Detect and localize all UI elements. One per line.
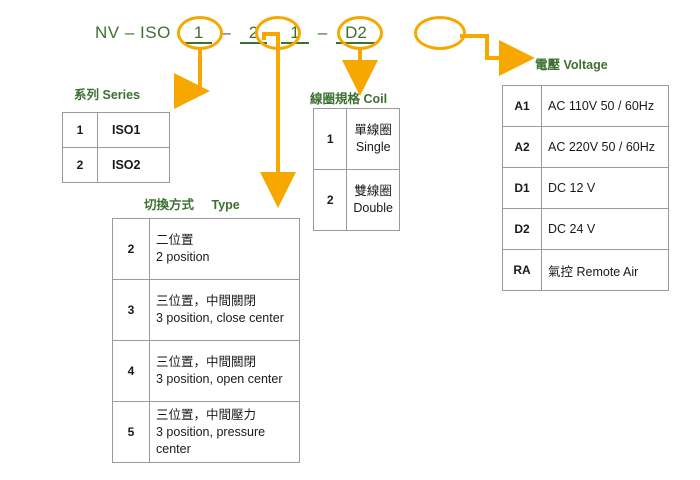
coil-value-cn: 單線圈 — [353, 122, 393, 139]
voltage-key: RA — [503, 250, 542, 291]
leader-type — [264, 34, 278, 204]
table-row: 4 三位置，中間關閉 3 position, open center — [113, 341, 300, 402]
table-voltage: A1 AC 110V 50 / 60Hz A2 AC 220V 50 / 60H… — [502, 85, 669, 291]
caption-type-cn: 切換方式 — [144, 198, 194, 212]
voltage-key: D1 — [503, 168, 542, 209]
caption-coil: 線圈規格 Coil — [310, 88, 387, 107]
table-row: 1 單線圈 Single — [314, 109, 400, 170]
voltage-value: 氣控 Remote Air — [542, 250, 669, 291]
coil-key: 2 — [314, 170, 347, 231]
table-row: A1 AC 110V 50 / 60Hz — [503, 86, 669, 127]
table-series: 1 ISO1 2 ISO2 — [62, 112, 170, 183]
type-value: 三位置，中間關閉 3 position, open center — [150, 341, 300, 402]
caption-type-en: Type — [212, 198, 240, 212]
coil-value-cn: 雙線圈 — [353, 183, 393, 200]
voltage-value: AC 220V 50 / 60Hz — [542, 127, 669, 168]
voltage-value: DC 24 V — [542, 209, 669, 250]
type-value-en: 3 position, pressure center — [156, 424, 293, 458]
type-value-cn: 三位置，中間壓力 — [156, 407, 293, 424]
voltage-key: A1 — [503, 86, 542, 127]
caption-coil-cn: 線圈規格 — [310, 92, 360, 106]
table-row: A2 AC 220V 50 / 60Hz — [503, 127, 669, 168]
caption-series-en: Series — [103, 88, 141, 102]
table-row: D2 DC 24 V — [503, 209, 669, 250]
voltage-key: A2 — [503, 127, 542, 168]
table-row: RA 氣控 Remote Air — [503, 250, 669, 291]
type-value-en: 3 position, open center — [156, 371, 293, 388]
caption-series: 系列 Series — [74, 84, 140, 103]
leader-series — [178, 48, 200, 91]
coil-value-en: Single — [353, 139, 393, 156]
table-row: 2 ISO2 — [63, 148, 170, 183]
leader-voltage — [460, 36, 531, 58]
caption-voltage: 電壓 Voltage — [535, 54, 608, 73]
voltage-value: AC 110V 50 / 60Hz — [542, 86, 669, 127]
type-value: 三位置，中間壓力 3 position, pressure center — [150, 402, 300, 463]
type-value: 二位置 2 position — [150, 219, 300, 280]
caption-coil-en: Coil — [364, 92, 388, 106]
caption-voltage-en: Voltage — [564, 58, 608, 72]
type-value-en: 2 position — [156, 249, 293, 266]
caption-series-cn: 系列 — [74, 88, 99, 102]
type-key: 4 — [113, 341, 150, 402]
voltage-key: D2 — [503, 209, 542, 250]
type-value-cn: 三位置，中間關閉 — [156, 354, 293, 371]
coil-value: 雙線圈 Double — [347, 170, 400, 231]
series-key: 2 — [63, 148, 98, 183]
type-key: 3 — [113, 280, 150, 341]
coil-key: 1 — [314, 109, 347, 170]
type-value-cn: 三位置，中間關閉 — [156, 293, 293, 310]
series-key: 1 — [63, 113, 98, 148]
table-row: 3 三位置，中間關閉 3 position, close center — [113, 280, 300, 341]
table-row: 5 三位置，中間壓力 3 position, pressure center — [113, 402, 300, 463]
coil-value-en: Double — [353, 200, 393, 217]
type-key: 5 — [113, 402, 150, 463]
table-row: 2 雙線圈 Double — [314, 170, 400, 231]
table-coil: 1 單線圈 Single 2 雙線圈 Double — [313, 108, 400, 231]
series-value: ISO2 — [98, 148, 170, 183]
coil-value: 單線圈 Single — [347, 109, 400, 170]
caption-voltage-cn: 電壓 — [535, 58, 560, 72]
table-row: 1 ISO1 — [63, 113, 170, 148]
table-type: 2 二位置 2 position 3 三位置，中間關閉 3 position, … — [112, 218, 300, 463]
type-key: 2 — [113, 219, 150, 280]
table-row: D1 DC 12 V — [503, 168, 669, 209]
voltage-value: DC 12 V — [542, 168, 669, 209]
type-value-en: 3 position, close center — [156, 310, 293, 327]
type-value-cn: 二位置 — [156, 232, 293, 249]
caption-type: 切換方式 Type — [144, 194, 240, 213]
type-value: 三位置，中間關閉 3 position, close center — [150, 280, 300, 341]
series-value: ISO1 — [98, 113, 170, 148]
table-row: 2 二位置 2 position — [113, 219, 300, 280]
